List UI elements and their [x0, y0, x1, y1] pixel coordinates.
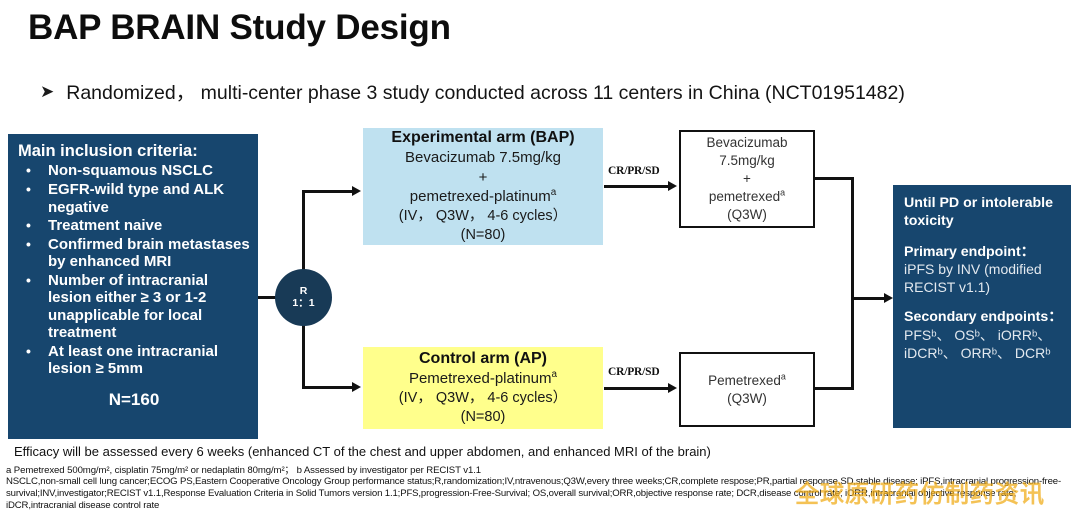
experimental-arm-drug2: pemetrexed-platinuma: [410, 187, 556, 207]
maintenance-drug-text: pemetrexed: [709, 189, 780, 204]
list-item: Treatment naive: [18, 217, 250, 235]
primary-endpoint-body: iPFS by INV (modified RECIST v1.1): [904, 261, 1063, 296]
inclusion-criteria-box: Main inclusion criteria: Non-squamous NS…: [8, 134, 258, 439]
connector-to-control-arm: [302, 386, 352, 389]
maintenance-top-plus: +: [743, 170, 751, 188]
control-arm-drug: Pemetrexed-platinuma: [409, 369, 557, 389]
subtitle-row: ➤ Randomized， multi-center phase 3 study…: [40, 80, 1060, 106]
maintenance-drug-text: Pemetrexed: [708, 373, 781, 388]
arrowhead-control-arm: [352, 382, 361, 392]
footnote-marker-a: a: [780, 187, 785, 197]
maintenance-top-box: Bevacizumab 7.5mg/kg + pemetrexeda (Q3W): [679, 130, 815, 228]
spacer: [904, 231, 1063, 244]
efficacy-assessment-note: Efficacy will be assessed every 6 weeks …: [14, 444, 1064, 459]
drug2-text: pemetrexed-platinum: [410, 188, 551, 205]
control-arm-title: Control arm (AP): [419, 349, 547, 369]
connector-maint-bottom-out: [815, 387, 853, 390]
randomization-ratio: 1：1: [292, 298, 314, 310]
footnote-a-b: a Pemetrexed 500mg/m², cisplatin 75mg/m²…: [6, 462, 1066, 476]
control-arm-n: (N=80): [461, 408, 506, 427]
list-item: Confirmed brain metastases by enhanced M…: [18, 236, 250, 271]
connector-to-experimental-arm: [302, 190, 352, 193]
arrowhead-maintenance-bottom: [668, 383, 677, 393]
footnote-marker-a: a: [781, 371, 786, 381]
bullet-arrow-icon: ➤: [40, 80, 54, 104]
list-item: At least one intracranial lesion ≥ 5mm: [18, 343, 250, 378]
secondary-endpoints-line2: iDCRᵇ、 ORRᵇ、 DCRᵇ: [904, 345, 1063, 363]
page-title: BAP BRAIN Study Design: [28, 8, 728, 48]
endpoints-box: Until PD or intolerable toxicity Primary…: [893, 185, 1071, 428]
experimental-arm-drug1: Bevacizumab 7.5mg/kg: [405, 148, 561, 168]
connector-merge-vertical: [851, 177, 854, 390]
experimental-arm-box: Experimental arm (BAP) Bevacizumab 7.5mg…: [363, 128, 603, 245]
footnote-marker-a: a: [551, 187, 557, 198]
subtitle-text: Randomized， multi-center phase 3 study c…: [66, 80, 905, 106]
arrowhead-maintenance-top: [668, 181, 677, 191]
footnote-marker-a: a: [552, 369, 558, 380]
secondary-endpoints-line1: PFSᵇ、 OSᵇ、 iORRᵇ、: [904, 327, 1063, 345]
connector-maint-top-out: [815, 177, 853, 180]
maintenance-bottom-schedule: (Q3W): [727, 390, 767, 408]
randomization-node: R 1：1: [275, 269, 332, 326]
slide-canvas: BAP BRAIN Study Design ➤ Randomized， mul…: [0, 0, 1080, 507]
inclusion-criteria-list: Non-squamous NSCLC EGFR-wild type and AL…: [18, 162, 250, 378]
maintenance-top-line1: Bevacizumab: [706, 134, 787, 152]
endpoints-until-text: Until PD or intolerable toxicity: [904, 195, 1063, 231]
experimental-arm-title: Experimental arm (BAP): [391, 128, 574, 148]
spacer: [904, 296, 1063, 309]
list-item: Number of intracranial lesion either ≥ 3…: [18, 272, 250, 342]
maintenance-bottom-line1: Pemetrexeda: [708, 372, 786, 390]
transition-label-bottom: CR/PR/SD: [608, 366, 659, 378]
connector-ctrl-to-maintenance: [604, 387, 668, 390]
maintenance-bottom-box: Pemetrexeda (Q3W): [679, 352, 815, 427]
efficacy-divider-bar: [8, 430, 258, 439]
total-enrollment: N=160: [18, 390, 250, 410]
arrowhead-endpoints: [884, 293, 893, 303]
randomization-label: R: [300, 286, 308, 298]
drug-text: Pemetrexed-platinum: [409, 370, 552, 387]
experimental-arm-plus: +: [479, 168, 488, 188]
arrowhead-experimental-arm: [352, 186, 361, 196]
experimental-arm-n: (N=80): [461, 226, 506, 245]
list-item: Non-squamous NSCLC: [18, 162, 250, 180]
list-item: EGFR-wild type and ALK negative: [18, 181, 250, 216]
control-arm-box: Control arm (AP) Pemetrexed-platinuma (I…: [363, 347, 603, 429]
connector-exp-to-maintenance: [604, 185, 668, 188]
inclusion-heading: Main inclusion criteria:: [18, 142, 250, 161]
transition-label-top: CR/PR/SD: [608, 165, 659, 177]
control-arm-schedule: (IV， Q3W， 4-6 cycles）: [399, 389, 567, 408]
connector-merge-to-endpoints: [851, 297, 884, 300]
experimental-arm-schedule: (IV， Q3W， 4-6 cycles）: [399, 207, 567, 226]
primary-endpoint-heading: Primary endpoint：: [904, 244, 1063, 262]
maintenance-top-line4: pemetrexeda: [709, 188, 785, 206]
maintenance-top-line2: 7.5mg/kg: [719, 152, 775, 170]
secondary-endpoints-heading: Secondary endpoints：: [904, 309, 1063, 327]
maintenance-top-schedule: (Q3W): [727, 206, 767, 224]
